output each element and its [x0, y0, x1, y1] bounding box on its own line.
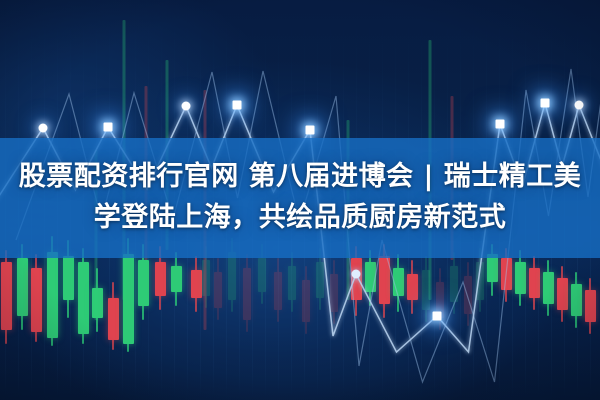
- headline-line-2: 学登陆上海，共绘品质厨房新范式: [0, 197, 600, 238]
- trend-node-10: [575, 101, 584, 110]
- trend-node-5: [306, 126, 315, 135]
- trend-node-7: [433, 312, 442, 321]
- trend-node-3: [182, 102, 191, 111]
- headline-line-1: 股票配资排行官网 第八届进博会 | 瑞士精工美: [0, 156, 600, 197]
- trend-node-4: [233, 101, 242, 110]
- trend-node-2: [104, 123, 113, 132]
- banner-image: 股票配资排行官网 第八届进博会 | 瑞士精工美 学登陆上海，共绘品质厨房新范式: [0, 0, 600, 400]
- page-title: 股票配资排行官网 第八届进博会 | 瑞士精工美 学登陆上海，共绘品质厨房新范式: [0, 156, 600, 238]
- trend-node-6: [352, 270, 361, 279]
- trend-node-8: [496, 120, 505, 129]
- trend-node-9: [541, 99, 550, 108]
- trend-node-1: [39, 124, 48, 133]
